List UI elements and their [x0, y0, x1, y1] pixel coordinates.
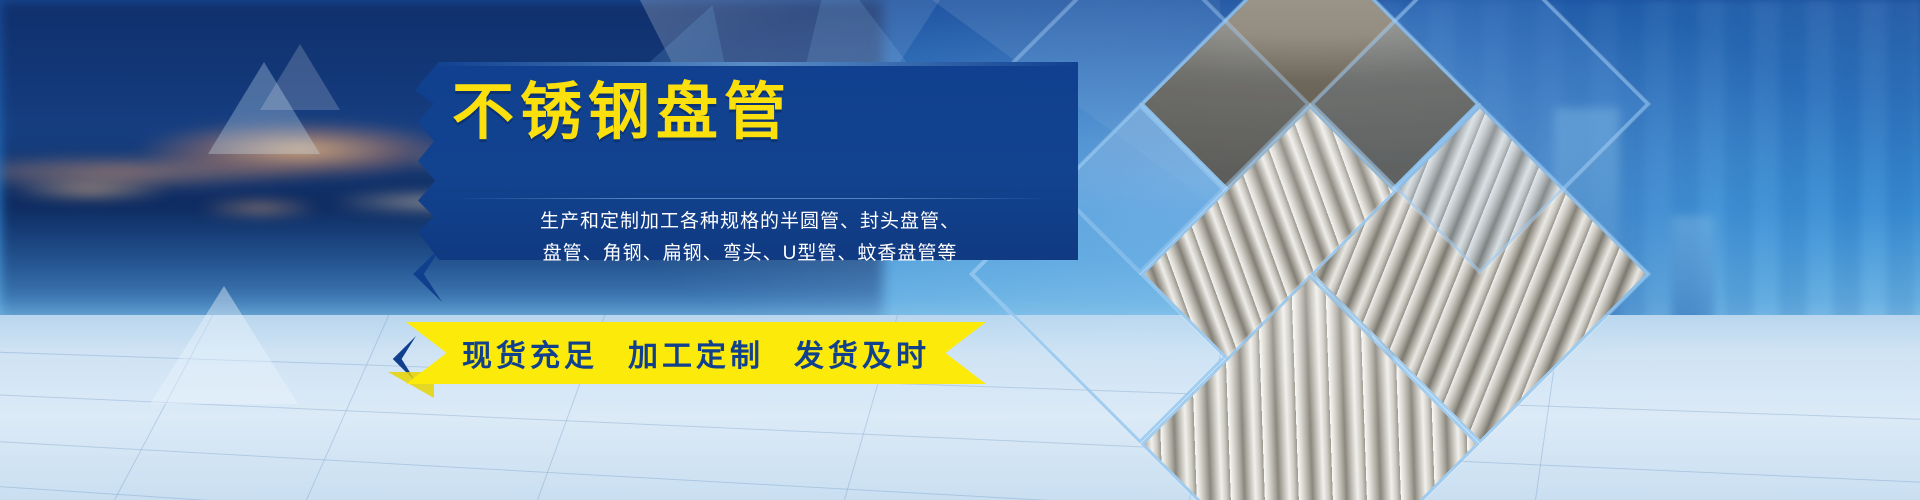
product-photo-collage — [1020, 0, 1600, 500]
subtitle-line-1: 生产和定制加工各种规格的半圆管、封头盘管、 — [440, 206, 1060, 238]
highlight-item-1: 现货充足 — [462, 331, 598, 375]
decor-triangle — [260, 44, 340, 110]
highlight-ribbon-text: 现货充足 加工定制 发货及时 — [406, 322, 986, 384]
headline-divider — [452, 198, 1052, 199]
highlight-item-3: 发货及时 — [794, 331, 930, 375]
hero-banner: 不锈钢盘管 生产和定制加工各种规格的半圆管、封头盘管、 盘管、角钢、扁钢、弯头、… — [0, 0, 1920, 500]
subtitle-line-2: 盘管、角钢、扁钢、弯头、U型管、蚊香盘管等 — [440, 238, 1060, 270]
headline-panel-highlight — [430, 62, 1078, 66]
decor-triangle — [150, 286, 298, 404]
highlight-item-2: 加工定制 — [628, 331, 764, 375]
subtitle-block: 生产和定制加工各种规格的半圆管、封头盘管、 盘管、角钢、扁钢、弯头、U型管、蚊香… — [440, 206, 1060, 270]
page-title: 不锈钢盘管 — [452, 82, 1052, 144]
